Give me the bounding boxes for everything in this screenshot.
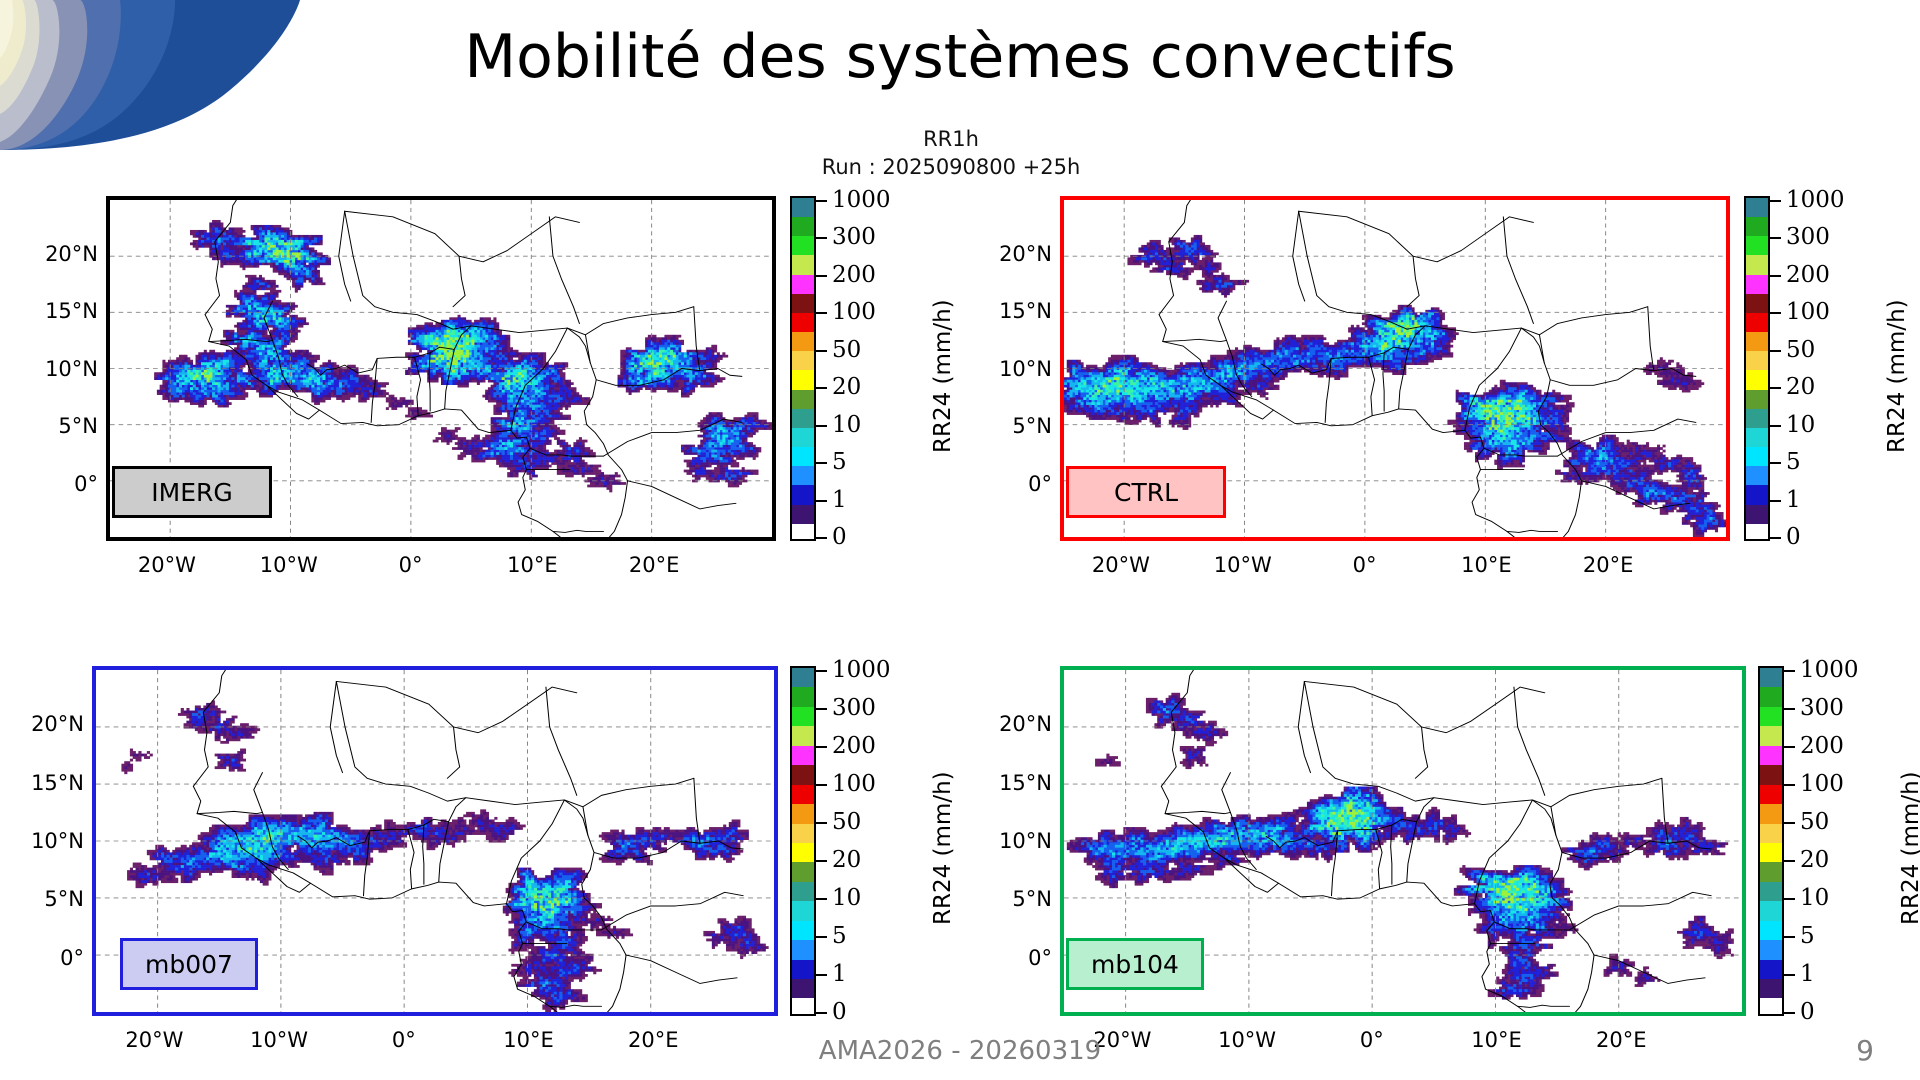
colorbar-tick-mb104-4 xyxy=(1784,822,1795,824)
panel-badge-mb007[interactable]: mb007 xyxy=(120,938,258,990)
colorbar-band-mb104-8 xyxy=(1760,824,1782,843)
colorbar-band-mb007-4 xyxy=(792,746,814,765)
colorbar-tick-ctrl-0 xyxy=(1770,200,1781,202)
ytick-label-ctrl-3: 5°N xyxy=(974,414,1052,438)
colorbar-tick-imerg-3 xyxy=(816,312,827,314)
colorbar-label-imerg-6: 10 xyxy=(832,412,861,438)
colorbar-band-mb104-4 xyxy=(1760,746,1782,765)
colorbar-label-mb007-4: 50 xyxy=(832,809,861,835)
colorbar-gradient-ctrl xyxy=(1744,196,1770,541)
colorbar-band-ctrl-12 xyxy=(1746,428,1768,447)
colorbar-label-imerg-4: 50 xyxy=(832,337,861,363)
xtick-label-imerg-1: 10°W xyxy=(260,553,318,577)
colorbar-gradient-mb007 xyxy=(790,666,816,1016)
ytick-label-mb104-2: 10°N xyxy=(974,829,1052,853)
xtick-label-imerg-2: 0° xyxy=(399,553,423,577)
colorbar-label-mb104-1: 300 xyxy=(1800,695,1844,721)
colorbar-title-mb104: RR24 (mm/h) xyxy=(1898,771,1920,925)
colorbar-band-ctrl-16 xyxy=(1746,505,1768,524)
colorbar-band-mb104-9 xyxy=(1760,843,1782,862)
colorbar-tick-mb104-2 xyxy=(1784,746,1795,748)
colorbar-band-mb104-17 xyxy=(1760,998,1782,1016)
figure-suptitle-line1: RR1h xyxy=(0,125,1920,153)
colorbar-label-mb007-3: 100 xyxy=(832,771,876,797)
colorbar-band-mb007-9 xyxy=(792,843,814,862)
footer-text: AMA2026 - 20260319 xyxy=(0,1036,1920,1066)
colorbar-label-mb007-6: 10 xyxy=(832,885,861,911)
ytick-label-mb007-4: 0° xyxy=(6,946,84,970)
colorbar-band-ctrl-11 xyxy=(1746,409,1768,428)
colorbar-tick-ctrl-2 xyxy=(1770,275,1781,277)
colorbar-band-mb104-6 xyxy=(1760,785,1782,804)
colorbar-tick-mb104-7 xyxy=(1784,936,1795,938)
colorbar-label-ctrl-7: 5 xyxy=(1786,449,1801,475)
colorbar-band-imerg-6 xyxy=(792,313,814,332)
colorbar-tick-mb104-8 xyxy=(1784,974,1795,976)
ytick-label-ctrl-2: 10°N xyxy=(974,357,1052,381)
colorbar-band-mb007-3 xyxy=(792,726,814,745)
colorbar-label-mb007-7: 5 xyxy=(832,923,847,949)
xtick-label-imerg-4: 20°E xyxy=(629,553,680,577)
colorbar-label-mb007-8: 1 xyxy=(832,961,847,987)
colorbar-imerg: 1000300200100502010510RR24 (mm/h) xyxy=(790,196,940,541)
colorbar-tick-ctrl-5 xyxy=(1770,387,1781,389)
ytick-label-ctrl-4: 0° xyxy=(974,472,1052,496)
ytick-label-mb104-3: 5°N xyxy=(974,887,1052,911)
colorbar-label-mb007-2: 200 xyxy=(832,733,876,759)
colorbar-tick-mb007-3 xyxy=(816,784,827,786)
colorbar-band-mb104-7 xyxy=(1760,804,1782,823)
colorbar-label-imerg-8: 1 xyxy=(832,487,847,513)
colorbar-band-mb104-1 xyxy=(1760,687,1782,706)
colorbar-tick-mb007-6 xyxy=(816,898,827,900)
colorbar-label-imerg-5: 20 xyxy=(832,374,861,400)
colorbar-label-ctrl-6: 10 xyxy=(1786,412,1815,438)
colorbar-gradient-imerg xyxy=(790,196,816,541)
colorbar-band-imerg-10 xyxy=(792,390,814,409)
colorbar-tick-mb104-9 xyxy=(1784,1012,1795,1014)
colorbar-label-ctrl-5: 20 xyxy=(1786,374,1815,400)
colorbar-label-imerg-0: 1000 xyxy=(832,187,891,213)
panel-badge-ctrl[interactable]: CTRL xyxy=(1066,466,1226,518)
colorbar-tick-imerg-1 xyxy=(816,237,827,239)
colorbar-tick-mb104-1 xyxy=(1784,708,1795,710)
colorbar-tick-ctrl-7 xyxy=(1770,462,1781,464)
colorbar-band-mb104-3 xyxy=(1760,726,1782,745)
colorbar-band-mb007-7 xyxy=(792,804,814,823)
ytick-label-imerg-3: 5°N xyxy=(20,414,98,438)
colorbar-mb104: 1000300200100502010510RR24 (mm/h) xyxy=(1758,666,1908,1016)
colorbar-label-mb104-4: 50 xyxy=(1800,809,1829,835)
xtick-label-ctrl-4: 20°E xyxy=(1583,553,1634,577)
colorbar-tick-ctrl-1 xyxy=(1770,237,1781,239)
xtick-label-ctrl-1: 10°W xyxy=(1214,553,1272,577)
colorbar-tick-imerg-4 xyxy=(816,350,827,352)
colorbar-band-ctrl-6 xyxy=(1746,313,1768,332)
colorbar-band-ctrl-13 xyxy=(1746,447,1768,466)
colorbar-band-mb007-15 xyxy=(792,960,814,979)
panel-badge-mb104[interactable]: mb104 xyxy=(1066,938,1204,990)
ytick-label-mb007-1: 15°N xyxy=(6,771,84,795)
ytick-label-imerg-4: 0° xyxy=(20,472,98,496)
colorbar-tick-imerg-8 xyxy=(816,500,827,502)
colorbar-title-imerg: RR24 (mm/h) xyxy=(930,299,956,453)
colorbar-band-imerg-12 xyxy=(792,428,814,447)
colorbar-band-mb007-8 xyxy=(792,824,814,843)
colorbar-band-mb104-2 xyxy=(1760,707,1782,726)
colorbar-band-imerg-13 xyxy=(792,447,814,466)
colorbar-band-mb104-11 xyxy=(1760,882,1782,901)
colorbar-label-mb007-1: 300 xyxy=(832,695,876,721)
colorbar-tick-mb007-8 xyxy=(816,974,827,976)
ytick-label-mb104-1: 15°N xyxy=(974,771,1052,795)
figure-suptitle-line2: Run : 2025090800 +25h xyxy=(0,153,1920,181)
colorbar-band-imerg-16 xyxy=(792,505,814,524)
colorbar-band-mb007-0 xyxy=(792,668,814,687)
colorbar-band-mb007-1 xyxy=(792,687,814,706)
colorbar-band-imerg-14 xyxy=(792,466,814,485)
colorbar-tick-ctrl-6 xyxy=(1770,425,1781,427)
colorbar-tick-ctrl-3 xyxy=(1770,312,1781,314)
colorbar-label-imerg-9: 0 xyxy=(832,524,847,550)
colorbar-band-ctrl-5 xyxy=(1746,294,1768,313)
xtick-label-ctrl-2: 0° xyxy=(1353,553,1377,577)
ytick-label-mb007-0: 20°N xyxy=(6,712,84,736)
colorbar-title-ctrl: RR24 (mm/h) xyxy=(1884,299,1910,453)
ytick-label-ctrl-1: 15°N xyxy=(974,299,1052,323)
colorbar-band-imerg-7 xyxy=(792,332,814,351)
colorbar-tick-mb104-0 xyxy=(1784,670,1795,672)
colorbar-band-imerg-17 xyxy=(792,524,814,541)
ytick-label-mb007-3: 5°N xyxy=(6,887,84,911)
colorbar-band-imerg-5 xyxy=(792,294,814,313)
colorbar-band-mb007-17 xyxy=(792,998,814,1016)
colorbar-tick-imerg-9 xyxy=(816,537,827,539)
ytick-label-mb104-0: 20°N xyxy=(974,712,1052,736)
colorbar-band-imerg-11 xyxy=(792,409,814,428)
colorbar-tick-mb007-9 xyxy=(816,1012,827,1014)
colorbar-band-imerg-15 xyxy=(792,485,814,504)
colorbar-band-ctrl-7 xyxy=(1746,332,1768,351)
panel-badge-imerg[interactable]: IMERG xyxy=(112,466,272,518)
colorbar-label-imerg-3: 100 xyxy=(832,299,876,325)
colorbar-tick-ctrl-8 xyxy=(1770,500,1781,502)
colorbar-label-ctrl-1: 300 xyxy=(1786,224,1830,250)
colorbar-band-mb104-10 xyxy=(1760,862,1782,881)
colorbar-tick-ctrl-9 xyxy=(1770,537,1781,539)
colorbar-label-ctrl-3: 100 xyxy=(1786,299,1830,325)
colorbar-tick-mb007-7 xyxy=(816,936,827,938)
colorbar-band-imerg-2 xyxy=(792,236,814,255)
colorbar-band-mb007-14 xyxy=(792,940,814,959)
colorbar-band-ctrl-0 xyxy=(1746,198,1768,217)
colorbar-tick-mb104-6 xyxy=(1784,898,1795,900)
colorbar-label-mb104-9: 0 xyxy=(1800,999,1815,1025)
colorbar-tick-imerg-0 xyxy=(816,200,827,202)
colorbar-label-mb007-0: 1000 xyxy=(832,657,891,683)
colorbar-tick-imerg-5 xyxy=(816,387,827,389)
colorbar-tick-mb007-1 xyxy=(816,708,827,710)
xtick-label-ctrl-0: 20°W xyxy=(1092,553,1150,577)
colorbar-band-imerg-8 xyxy=(792,351,814,370)
colorbar-band-ctrl-3 xyxy=(1746,255,1768,274)
colorbar-band-mb007-5 xyxy=(792,765,814,784)
colorbar-band-mb104-12 xyxy=(1760,901,1782,920)
colorbar-band-ctrl-14 xyxy=(1746,466,1768,485)
colorbar-label-mb104-2: 200 xyxy=(1800,733,1844,759)
colorbar-band-mb104-15 xyxy=(1760,960,1782,979)
colorbar-ctrl: 1000300200100502010510RR24 (mm/h) xyxy=(1744,196,1894,541)
colorbar-band-ctrl-9 xyxy=(1746,370,1768,389)
colorbar-tick-mb007-4 xyxy=(816,822,827,824)
colorbar-label-imerg-2: 200 xyxy=(832,262,876,288)
colorbar-tick-imerg-6 xyxy=(816,425,827,427)
colorbar-title-mb007: RR24 (mm/h) xyxy=(930,771,956,925)
colorbar-gradient-mb104 xyxy=(1758,666,1784,1016)
colorbar-label-mb007-9: 0 xyxy=(832,999,847,1025)
colorbar-band-mb007-11 xyxy=(792,882,814,901)
colorbar-band-mb007-12 xyxy=(792,901,814,920)
colorbar-band-mb007-13 xyxy=(792,921,814,940)
xtick-label-ctrl-3: 10°E xyxy=(1461,553,1512,577)
colorbar-label-mb104-8: 1 xyxy=(1800,961,1815,987)
ytick-label-mb104-4: 0° xyxy=(974,946,1052,970)
colorbar-band-mb104-14 xyxy=(1760,940,1782,959)
figure-suptitle: RR1h Run : 2025090800 +25h xyxy=(0,125,1920,182)
colorbar-band-ctrl-10 xyxy=(1746,390,1768,409)
ytick-label-mb007-2: 10°N xyxy=(6,829,84,853)
colorbar-mb007: 1000300200100502010510RR24 (mm/h) xyxy=(790,666,940,1016)
ytick-label-ctrl-0: 20°N xyxy=(974,242,1052,266)
colorbar-band-imerg-4 xyxy=(792,275,814,294)
colorbar-label-mb104-6: 10 xyxy=(1800,885,1829,911)
colorbar-tick-ctrl-4 xyxy=(1770,350,1781,352)
colorbar-band-imerg-9 xyxy=(792,370,814,389)
colorbar-band-ctrl-8 xyxy=(1746,351,1768,370)
colorbar-tick-mb007-0 xyxy=(816,670,827,672)
colorbar-band-mb104-13 xyxy=(1760,921,1782,940)
colorbar-band-imerg-0 xyxy=(792,198,814,217)
colorbar-band-mb007-16 xyxy=(792,979,814,998)
ytick-label-imerg-2: 10°N xyxy=(20,357,98,381)
colorbar-band-mb007-10 xyxy=(792,862,814,881)
colorbar-label-ctrl-4: 50 xyxy=(1786,337,1815,363)
xtick-label-imerg-3: 10°E xyxy=(507,553,558,577)
ytick-label-imerg-0: 20°N xyxy=(20,242,98,266)
colorbar-tick-imerg-7 xyxy=(816,462,827,464)
colorbar-label-ctrl-8: 1 xyxy=(1786,487,1801,513)
colorbar-band-mb104-0 xyxy=(1760,668,1782,687)
colorbar-band-ctrl-17 xyxy=(1746,524,1768,541)
colorbar-band-mb104-5 xyxy=(1760,765,1782,784)
colorbar-label-mb007-5: 20 xyxy=(832,847,861,873)
colorbar-tick-imerg-2 xyxy=(816,275,827,277)
colorbar-band-ctrl-4 xyxy=(1746,275,1768,294)
colorbar-label-ctrl-9: 0 xyxy=(1786,524,1801,550)
colorbar-label-mb104-5: 20 xyxy=(1800,847,1829,873)
colorbar-label-ctrl-2: 200 xyxy=(1786,262,1830,288)
page-number: 9 xyxy=(1856,1034,1874,1067)
colorbar-label-mb104-3: 100 xyxy=(1800,771,1844,797)
slide-title: Mobilité des systèmes convectifs xyxy=(0,22,1920,92)
colorbar-tick-mb007-2 xyxy=(816,746,827,748)
colorbar-label-imerg-7: 5 xyxy=(832,449,847,475)
xtick-label-imerg-0: 20°W xyxy=(138,553,196,577)
ytick-label-imerg-1: 15°N xyxy=(20,299,98,323)
colorbar-band-mb007-6 xyxy=(792,785,814,804)
colorbar-band-mb104-16 xyxy=(1760,979,1782,998)
colorbar-band-imerg-1 xyxy=(792,217,814,236)
colorbar-band-mb007-2 xyxy=(792,707,814,726)
colorbar-tick-mb104-5 xyxy=(1784,860,1795,862)
colorbar-tick-mb104-3 xyxy=(1784,784,1795,786)
colorbar-label-mb104-0: 1000 xyxy=(1800,657,1859,683)
colorbar-label-imerg-1: 300 xyxy=(832,224,876,250)
colorbar-band-imerg-3 xyxy=(792,255,814,274)
colorbar-band-ctrl-1 xyxy=(1746,217,1768,236)
colorbar-tick-mb007-5 xyxy=(816,860,827,862)
colorbar-band-ctrl-2 xyxy=(1746,236,1768,255)
colorbar-label-mb104-7: 5 xyxy=(1800,923,1815,949)
colorbar-label-ctrl-0: 1000 xyxy=(1786,187,1845,213)
colorbar-band-ctrl-15 xyxy=(1746,485,1768,504)
